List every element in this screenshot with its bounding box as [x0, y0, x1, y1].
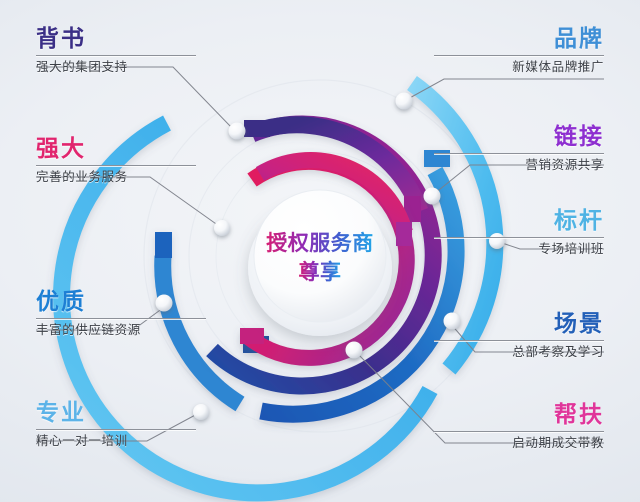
center-title-line2: 尊享 — [299, 260, 342, 284]
label-link-sub: 营销资源共享 — [434, 158, 604, 172]
label-strength-rule — [36, 165, 196, 166]
label-benchmark-sub: 专场培训班 — [434, 242, 604, 256]
center-title-line1: 授权服务商 — [266, 231, 374, 255]
label-brand-title: 品牌 — [434, 26, 604, 50]
label-link-title: 链接 — [434, 124, 604, 148]
label-endorsement-rule — [36, 55, 196, 56]
label-support-rule — [434, 431, 604, 432]
label-brand-sub: 新媒体品牌推广 — [434, 60, 604, 74]
label-brand-rule — [434, 55, 604, 56]
label-benchmark[interactable]: 标杆 专场培训班 — [434, 208, 604, 257]
label-endorsement[interactable]: 背书 强大的集团支持 — [36, 26, 196, 75]
label-quality[interactable]: 优质 丰富的供应链资源 — [36, 289, 206, 338]
label-quality-title: 优质 — [36, 289, 206, 313]
label-professional-rule — [36, 429, 196, 430]
label-link[interactable]: 链接 营销资源共享 — [434, 124, 604, 173]
label-scene-sub: 总部考察及学习 — [434, 345, 604, 359]
label-endorsement-title: 背书 — [36, 26, 196, 50]
label-professional-sub: 精心一对一培训 — [36, 434, 196, 448]
label-benchmark-title: 标杆 — [434, 208, 604, 232]
label-strength[interactable]: 强大 完善的业务服务 — [36, 136, 196, 185]
label-benchmark-rule — [434, 237, 604, 238]
label-professional[interactable]: 专业 精心一对一培训 — [36, 400, 196, 449]
label-support-sub: 启动期成交带教 — [434, 436, 604, 450]
label-strength-title: 强大 — [36, 136, 196, 160]
label-quality-sub: 丰富的供应链资源 — [36, 323, 206, 337]
label-support-title: 帮扶 — [434, 402, 604, 426]
infographic-canvas: 授权服务商 尊享 背书 强大的集团支持 强大 完善的业务服务 优质 丰富的供应链… — [0, 0, 640, 502]
label-link-rule — [434, 153, 604, 154]
label-quality-rule — [36, 318, 206, 319]
label-endorsement-sub: 强大的集团支持 — [36, 60, 196, 74]
label-scene-title: 场景 — [434, 311, 604, 335]
label-brand[interactable]: 品牌 新媒体品牌推广 — [434, 26, 604, 75]
label-professional-title: 专业 — [36, 400, 196, 424]
label-strength-sub: 完善的业务服务 — [36, 170, 196, 184]
label-support[interactable]: 帮扶 启动期成交带教 — [434, 402, 604, 451]
label-scene-rule — [434, 340, 604, 341]
label-scene[interactable]: 场景 总部考察及学习 — [434, 311, 604, 360]
